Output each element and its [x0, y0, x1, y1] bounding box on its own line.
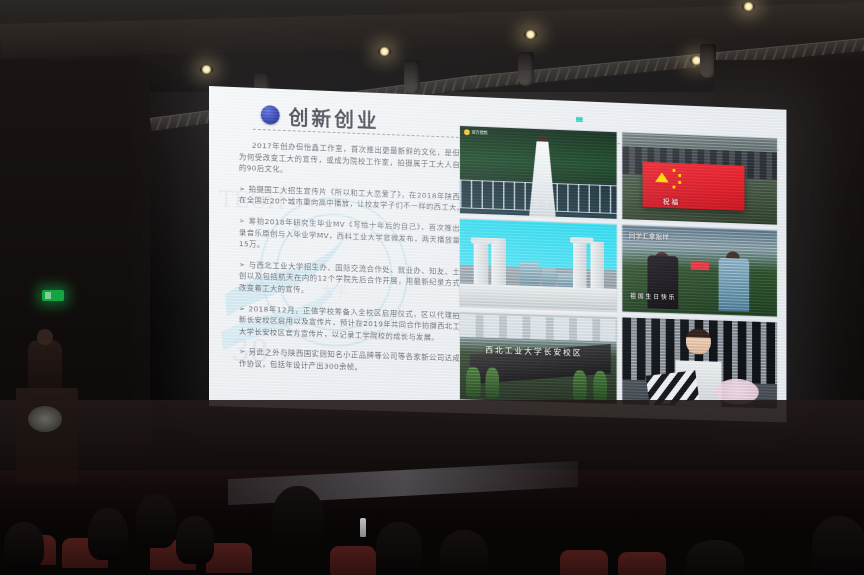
colonnade-column: [590, 241, 604, 290]
photo-woman-white-dress: 官方视频: [459, 125, 617, 220]
tree: [485, 367, 499, 399]
list-bullet: ➢: [239, 184, 246, 193]
figure-right: [718, 258, 749, 312]
photo-header-text: 同学汇拿报样: [629, 228, 771, 249]
photo-subcaption: 祖国生日快乐: [630, 291, 676, 301]
tree: [573, 370, 587, 402]
monument-base: [460, 284, 617, 312]
colonnade-column: [491, 238, 505, 287]
photo-campus-road: 西北工业大学长安校区: [459, 311, 617, 405]
photo-campus-monument: [459, 218, 617, 312]
audience-seat: [618, 552, 666, 575]
ceiling-spotlight: [200, 65, 213, 74]
paragraph: ➢与西北工业大学招生办、国际交流合作处、就业办、知友、土正创以及包括航天在内的1…: [239, 259, 468, 301]
audience-seat: [330, 546, 376, 575]
column-capital: [570, 237, 593, 244]
figure-head: [686, 328, 711, 355]
railing: [460, 180, 617, 214]
paragraph: ➢2018年12月，正值学校筹备入全校区启用仪式，区以代理拍摄新长安校区启用以及…: [239, 303, 468, 345]
list-bullet: ➢: [239, 304, 246, 313]
flag-star-icon: [672, 185, 675, 188]
building: [542, 267, 556, 288]
hanging-stage-light: [404, 60, 420, 94]
audience-head: [440, 530, 488, 575]
screen-surface: TECH 38 大学 其 创新创业 2017年创办但怡鑫工作室，首次推出更最新鲜…: [209, 86, 786, 422]
photo-student-clapperboard: [621, 316, 777, 409]
buildings-row: [460, 314, 617, 342]
podium-emblem-icon: [28, 406, 62, 432]
list-bullet: ➢: [239, 347, 246, 356]
slide-body-text: 2017年创办但怡鑫工作室，首次推出更最新鲜的文化，是但最为何受改变工大的宣传，…: [239, 139, 468, 385]
photo-caption: 祝福: [663, 197, 680, 207]
photo-caption: 同学汇拿报样: [629, 231, 669, 242]
paragraph: ➢筹拍2018年研究生毕业MV《写给十年后的自己》，首次推出自录音乐原创与入毕业…: [239, 215, 468, 258]
slide-title-text: 创新创业: [289, 101, 380, 133]
paragraph: 2017年创办但怡鑫工作室，首次推出更最新鲜的文化，是但最为何受改变工大的宣传，…: [239, 139, 468, 182]
small-flag-icon: [691, 262, 710, 270]
list-bullet: ➢: [239, 260, 246, 269]
audience-head: [4, 522, 44, 568]
ceiling-spotlight: [378, 47, 391, 56]
tree: [466, 366, 480, 398]
ceiling-spotlight: [524, 30, 537, 39]
photo-national-flag-group: 祝福: [621, 131, 777, 225]
hanging-stage-light: [518, 52, 534, 86]
slide-title: 创新创业: [261, 100, 380, 134]
paragraph: ➢拍摄国工大招生宣传片《所以和工大恋爱了》，在2018年陕西省在全国近20个城市…: [239, 183, 468, 214]
audience-head: [686, 540, 744, 575]
figure-left: [647, 255, 678, 310]
audience-head: [812, 516, 864, 575]
title-bullet-icon: [261, 105, 280, 125]
audience-head: [272, 486, 324, 548]
building: [520, 261, 540, 288]
channel-logo-icon: 官方视频: [464, 129, 487, 136]
exit-sign-icon: [42, 290, 64, 301]
logo-text: 官方视频: [472, 129, 488, 136]
audience-head: [88, 508, 128, 560]
photo-grid: 官方视频 祝福: [459, 125, 778, 409]
colonnade-column: [573, 241, 587, 290]
auditorium-photo: TECH 38 大学 其 创新创业 2017年创办但怡鑫工作室，首次推出更最新鲜…: [0, 0, 864, 575]
national-flag: [643, 162, 745, 211]
logo-dot-icon: [464, 129, 470, 135]
audience-head: [176, 516, 214, 564]
presentation-slide: TECH 38 大学 其 创新创业 2017年创办但怡鑫工作室，首次推出更最新鲜…: [209, 86, 786, 422]
flag-star-icon: [672, 169, 675, 172]
screen-indicator-dot: [576, 117, 583, 122]
tree: [593, 370, 607, 402]
ceiling-spotlight: [742, 2, 755, 11]
paragraph: ➢另此之外与陕西国实则知名小正品牌等公司等各家新公司达成合作协议，包括年设计产出…: [239, 346, 468, 376]
led-screen: TECH 38 大学 其 创新创业 2017年创办但怡鑫工作室，首次推出更最新鲜…: [209, 86, 786, 422]
audience-head: [136, 494, 176, 548]
water-bottle: [360, 518, 366, 537]
flag-star-icon: [655, 172, 668, 182]
list-bullet: ➢: [239, 216, 246, 225]
flag-star-icon: [678, 180, 681, 183]
column-capital: [471, 237, 495, 244]
colonnade-column: [474, 237, 488, 286]
speaker-head: [37, 329, 53, 345]
photo-two-presenters: 同学汇拿报样 祖国生日快乐: [621, 224, 777, 318]
audience-head: [376, 522, 422, 574]
audience-seat: [560, 550, 608, 575]
